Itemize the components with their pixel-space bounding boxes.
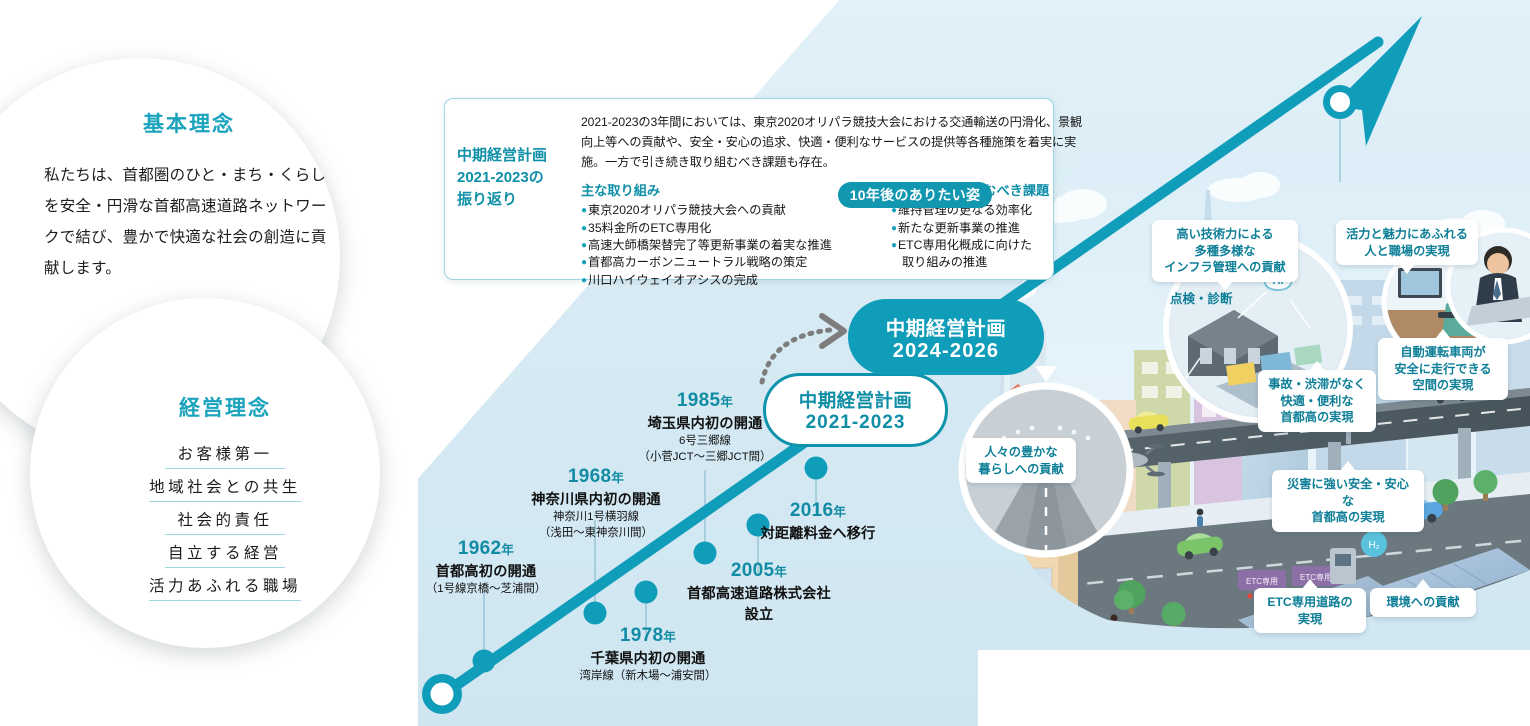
callout-line: 事故・渋滞がなく bbox=[1267, 376, 1367, 393]
milestone-1962: 1962年 首都高初の開通 （1号線京橋～芝浦間） bbox=[418, 538, 570, 597]
management-philosophy-title: 経営理念 bbox=[120, 392, 330, 422]
callout-line: 高い技術力による bbox=[1161, 226, 1289, 243]
milestone-detail: （浅田～東神奈川間） bbox=[486, 526, 706, 541]
plan-2021-2023-bubble[interactable]: 中期経営計画 2021-2023 bbox=[763, 373, 948, 447]
callout-rich-living: 人々の豊かな 暮らしへの貢献 bbox=[966, 438, 1076, 483]
callout-etc-only-road: ETC専用道路の 実現 bbox=[1254, 588, 1366, 633]
callout-line: 実現 bbox=[1263, 611, 1357, 628]
callout-line: 多種多様な bbox=[1161, 243, 1289, 260]
callout-tail-icon bbox=[1302, 579, 1318, 589]
milestone-detail: 湾岸線（新木場～浦安間） bbox=[538, 669, 758, 684]
bullet-icon: ● bbox=[581, 202, 587, 219]
initiative-item: ●高速大師橋架替完了等更新事業の着実な推進 bbox=[581, 237, 881, 254]
milestone-title: 神奈川県内初の開通 bbox=[486, 489, 706, 509]
review-label-line: 2021-2023の bbox=[457, 167, 581, 189]
infographic-page: 基本理念 私たちは、首都圏のひと・まち・くらしを安全・円滑な首都高速道路ネットワ… bbox=[0, 0, 1530, 726]
milestone-year: 2016年 bbox=[718, 500, 918, 522]
management-philosophy-list: お客様第一 地域社会との共生 社会的責任 自立する経営 活力あふれる職場 bbox=[120, 440, 330, 601]
review-label-line: 中期経営計画 bbox=[457, 145, 581, 167]
bullet-icon: ● bbox=[581, 254, 587, 271]
callout-line: 災害に強い安全・安心な bbox=[1281, 476, 1415, 509]
basic-philosophy-body: 私たちは、首都圏のひと・まち・くらしを安全・円滑な首都高速道路ネットワークで結び… bbox=[44, 160, 334, 284]
callout-line: 暮らしへの貢献 bbox=[975, 461, 1067, 478]
callout-line: 自動運転車両が bbox=[1387, 344, 1499, 361]
callout-line: 人々の豊かな bbox=[975, 444, 1067, 461]
initiative-item: ●川口ハイウェイオアシスの完成 bbox=[581, 272, 881, 289]
management-item: 活力あふれる職場 bbox=[149, 572, 301, 601]
bullet-icon: ● bbox=[891, 237, 897, 254]
milestone-title-cont: 設立 bbox=[634, 604, 884, 624]
milestone-title: 対距離料金へ移行 bbox=[718, 523, 918, 543]
callout-tail-icon bbox=[1309, 361, 1325, 371]
milestone-1968: 1968年 神奈川県内初の開通 神奈川1号横羽線 （浅田～東神奈川間） bbox=[486, 466, 706, 541]
plan-2024-2026-bubble[interactable]: 中期経営計画 2024-2026 bbox=[848, 299, 1044, 375]
bullet-icon: ● bbox=[891, 220, 897, 237]
callout-line: 活力と魅力にあふれる bbox=[1345, 226, 1469, 243]
callout-tail-icon bbox=[1340, 461, 1356, 471]
bullet-icon: ● bbox=[581, 237, 587, 254]
milestone-1978: 1978年 千葉県内初の開通 湾岸線（新木場～浦安間） bbox=[538, 625, 758, 684]
callout-line: 快適・便利な bbox=[1267, 393, 1367, 410]
initiative-item: ●東京2020オリパラ競技大会への貢献 bbox=[581, 202, 881, 219]
plan-title: 中期経営計画 bbox=[886, 312, 1007, 341]
callout-line: インフラ管理への貢献 bbox=[1161, 259, 1289, 276]
review-lead-text: 2021-2023の3年間においては、東京2020オリパラ競技大会における交通輸… bbox=[581, 113, 1083, 172]
milestone-title: 首都高速道路株式会社 bbox=[634, 583, 884, 603]
issue-item-continuation: 取り組みの推進 bbox=[891, 254, 1083, 271]
review-label-line: 振り返り bbox=[457, 189, 581, 211]
milestone-year: 2005年 bbox=[634, 560, 884, 582]
milestone-year: 1962年 bbox=[418, 538, 570, 560]
callout-disaster-resilience: 災害に強い安全・安心な 首都高の実現 bbox=[1272, 470, 1424, 532]
management-item: 自立する経営 bbox=[165, 539, 285, 568]
plan-period: 2024-2026 bbox=[893, 340, 999, 363]
milestone-detail: （1号線京橋～芝浦間） bbox=[418, 582, 570, 597]
milestone-title: 千葉県内初の開通 bbox=[538, 648, 758, 668]
milestone-detail: 神奈川1号横羽線 bbox=[486, 510, 706, 525]
callout-tail-icon bbox=[1217, 281, 1233, 291]
basic-philosophy-content: 基本理念 私たちは、首都圏のひと・まち・くらしを安全・円滑な首都高速道路ネットワ… bbox=[44, 108, 334, 284]
callout-tail-icon bbox=[1415, 579, 1431, 589]
callout-environment: 環境への貢献 bbox=[1370, 588, 1476, 617]
callout-line: 環境への貢献 bbox=[1379, 594, 1467, 611]
callout-no-accidents: 事故・渋滞がなく 快適・便利な 首都高の実現 bbox=[1258, 370, 1376, 432]
callout-people-workplace: 活力と魅力にあふれる 人と職場の実現 bbox=[1336, 220, 1478, 265]
ten-year-vision-label: 10年後のありたい姿 bbox=[850, 185, 981, 205]
management-item: 地域社会との共生 bbox=[149, 473, 301, 502]
callout-line: 首都高の実現 bbox=[1281, 509, 1415, 526]
callout-line: ETC専用道路の bbox=[1263, 594, 1357, 611]
bullet-icon: ● bbox=[581, 272, 587, 289]
milestone-year: 1978年 bbox=[538, 625, 758, 647]
milestone-2005: 2005年 首都高速道路株式会社 設立 bbox=[634, 560, 884, 624]
management-philosophy-content: 経営理念 お客様第一 地域社会との共生 社会的責任 自立する経営 活力あふれる職… bbox=[120, 392, 330, 605]
milestone-2016: 2016年 対距離料金へ移行 bbox=[718, 500, 918, 543]
milestone-title: 首都高初の開通 bbox=[418, 561, 570, 581]
bullet-icon: ● bbox=[581, 220, 587, 237]
inspection-diagnosis-caption: 点検・診断 bbox=[1170, 288, 1233, 307]
ten-year-vision-badge: 10年後のありたい姿 bbox=[838, 182, 992, 208]
initiative-item: ●35料金所のETC専用化 bbox=[581, 220, 881, 237]
review-label: 中期経営計画 2021-2023の 振り返り bbox=[445, 99, 581, 279]
callout-tech-contribution: 高い技術力による 多種多様な インフラ管理への貢献 bbox=[1152, 220, 1298, 282]
milestone-year: 1968年 bbox=[486, 466, 706, 488]
timeline-node-1962 bbox=[473, 650, 496, 673]
philosophy-panel: 基本理念 私たちは、首都圏のひと・まち・くらしを安全・円滑な首都高速道路ネットワ… bbox=[0, 0, 418, 726]
plan-title: 中期経営計画 bbox=[799, 387, 912, 413]
main-initiatives-column: 主な取り組み ●東京2020オリパラ競技大会への貢献 ●35料金所のETC専用化… bbox=[581, 180, 881, 289]
callout-tail-icon bbox=[1435, 329, 1451, 339]
management-item: 社会的責任 bbox=[165, 506, 285, 535]
milestone-detail: （小菅JCT～三郷JCT間） bbox=[594, 450, 816, 465]
issue-item: ●ETC専用化概成に向けた bbox=[891, 237, 1083, 254]
plan-period: 2021-2023 bbox=[806, 412, 906, 434]
callout-tail-icon bbox=[1399, 264, 1415, 274]
callout-line: 空間の実現 bbox=[1387, 377, 1499, 394]
callout-line: 首都高の実現 bbox=[1267, 409, 1367, 426]
issue-item: ●新たな更新事業の推進 bbox=[891, 220, 1083, 237]
timeline-node-1968 bbox=[584, 602, 607, 625]
callout-autonomous-driving: 自動運転車両が 安全に走行できる 空間の実現 bbox=[1378, 338, 1508, 400]
callout-line: 安全に走行できる bbox=[1387, 361, 1499, 378]
column-heading: 主な取り組み bbox=[581, 180, 881, 199]
callout-line: 人と職場の実現 bbox=[1345, 243, 1469, 260]
initiative-item: ●首都高カーボンニュートラル戦略の策定 bbox=[581, 254, 881, 271]
basic-philosophy-title: 基本理念 bbox=[44, 108, 334, 138]
management-item: お客様第一 bbox=[165, 440, 285, 469]
